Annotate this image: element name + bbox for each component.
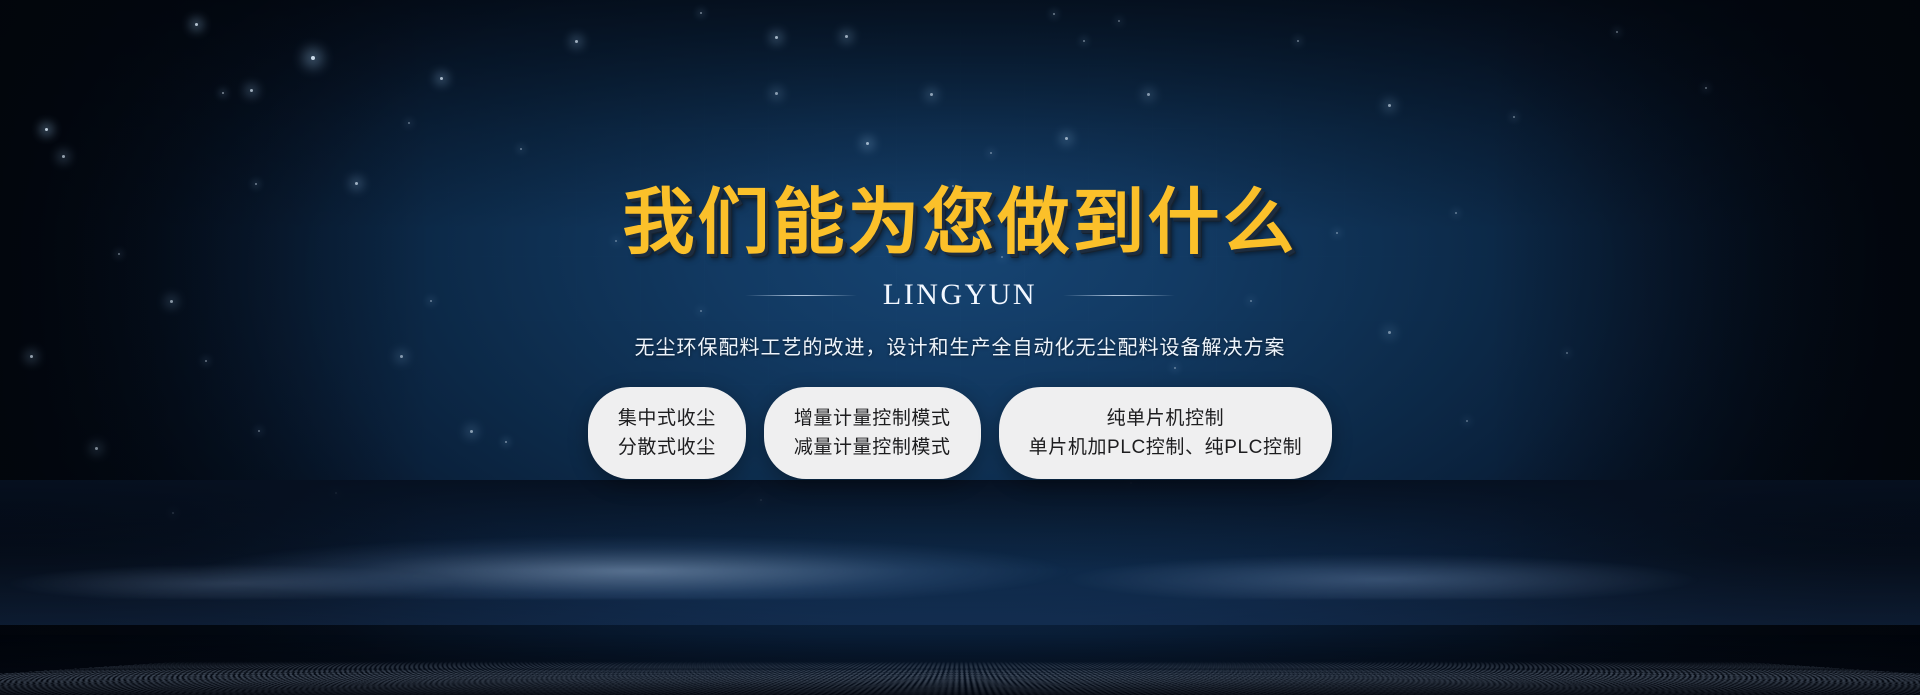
brand-row: LINGYUN [745, 278, 1175, 312]
feature-card-line: 纯单片机控制 [1107, 408, 1225, 430]
feature-card-line: 增量计量控制模式 [794, 408, 951, 430]
feature-card-line: 减量计量控制模式 [794, 437, 951, 459]
brand-rule-left [745, 295, 857, 296]
headline-title: 我们能为您做到什么 [622, 186, 1297, 258]
feature-card[interactable]: 集中式收尘 分散式收尘 [588, 387, 746, 479]
banner-content: 我们能为您做到什么 LINGYUN 无尘环保配料工艺的改进，设计和生产全自动化无… [0, 0, 1920, 695]
feature-card[interactable]: 增量计量控制模式 减量计量控制模式 [764, 387, 981, 479]
brand-rule-right [1063, 295, 1175, 296]
brand-name: LINGYUN [883, 278, 1037, 312]
subtitle-text: 无尘环保配料工艺的改进，设计和生产全自动化无尘配料设备解决方案 [635, 331, 1286, 360]
feature-card-list: 集中式收尘 分散式收尘 增量计量控制模式 减量计量控制模式 纯单片机控制 单片机… [588, 387, 1332, 479]
feature-card[interactable]: 纯单片机控制 单片机加PLC控制、纯PLC控制 [999, 387, 1333, 479]
feature-card-line: 集中式收尘 [618, 408, 716, 430]
hero-banner: 我们能为您做到什么 LINGYUN 无尘环保配料工艺的改进，设计和生产全自动化无… [0, 0, 1920, 695]
feature-card-line: 单片机加PLC控制、纯PLC控制 [1029, 437, 1303, 459]
feature-card-line: 分散式收尘 [618, 437, 716, 459]
